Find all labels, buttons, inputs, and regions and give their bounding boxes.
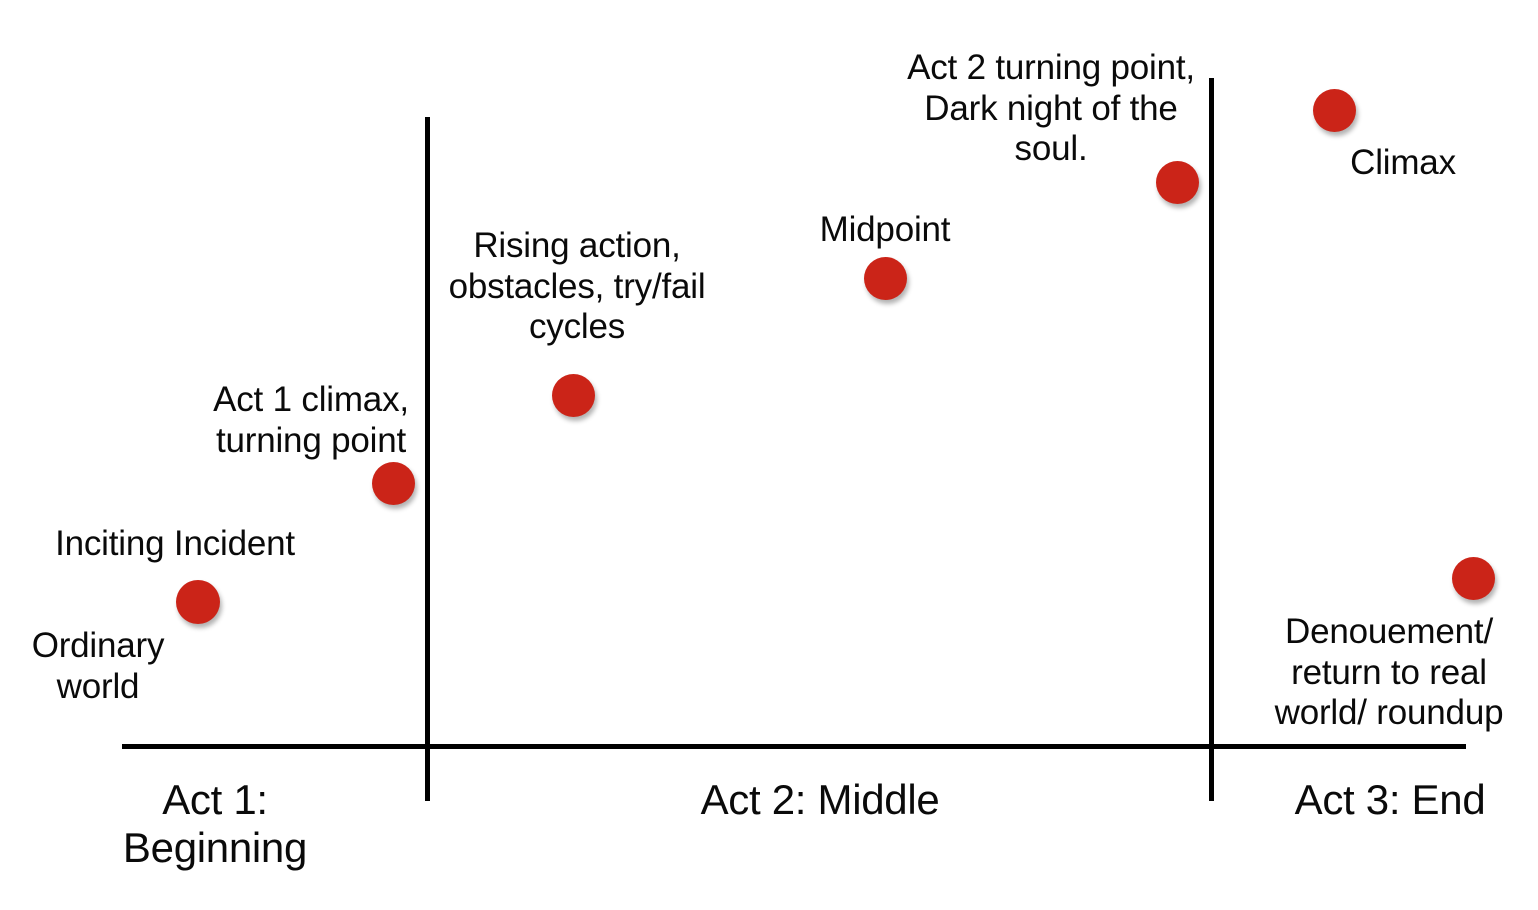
dot-act-1-climax (372, 462, 415, 505)
label-midpoint: Midpoint (760, 210, 1010, 251)
label-denouement: Denouement/ return to real world/ roundu… (1244, 612, 1534, 734)
act-label-2: Act 2: Middle (600, 776, 1040, 824)
label-act-1-climax: Act 1 climax, turning point (185, 380, 437, 461)
act-label-3: Act 3: End (1240, 776, 1538, 824)
label-ordinary-world: Ordinary world (8, 626, 188, 707)
label-rising-action: Rising action, obstacles, try/fail cycle… (432, 226, 722, 348)
dot-climax (1313, 89, 1356, 132)
dot-inciting-incident (176, 580, 220, 624)
story-structure-diagram: Ordinary world Inciting Incident Act 1 c… (0, 0, 1538, 910)
act-label-1: Act 1: Beginning (45, 776, 385, 872)
dot-rising-action (552, 374, 595, 417)
baseline-axis (122, 744, 1466, 749)
dot-midpoint (864, 257, 907, 300)
label-inciting-incident: Inciting Incident (20, 524, 330, 565)
label-climax: Climax (1278, 143, 1528, 184)
dot-act-2-turning-point (1156, 161, 1199, 204)
act2-act3-divider (1209, 78, 1214, 801)
label-act-2-turning-point: Act 2 turning point, Dark night of the s… (890, 48, 1212, 170)
dot-denouement (1452, 557, 1495, 600)
